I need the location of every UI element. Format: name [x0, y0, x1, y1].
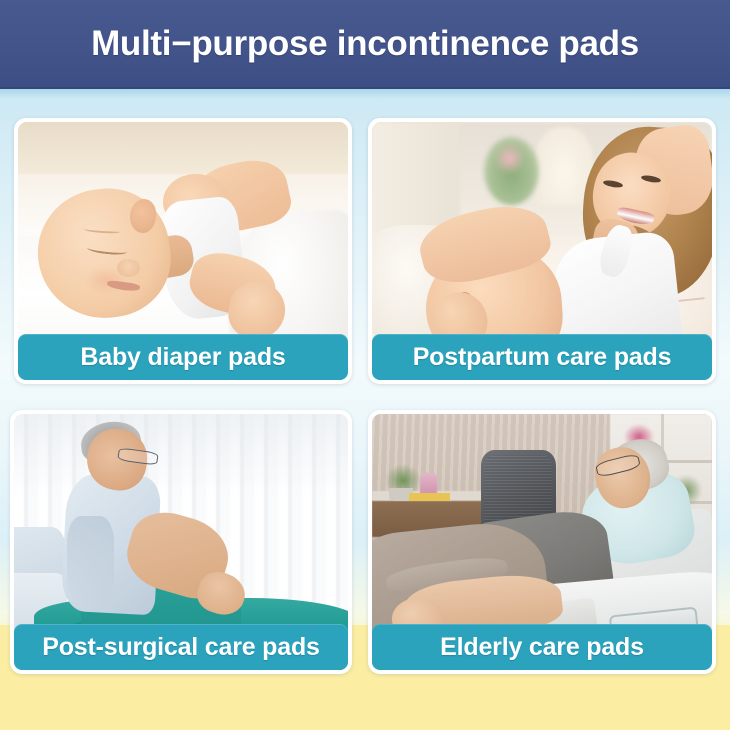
postpartum-flower — [494, 143, 525, 174]
caption-bar-postpartum: Postpartum care pads — [372, 334, 712, 380]
caption-label-baby: Baby diaper pads — [80, 343, 285, 372]
baby-headboard — [18, 122, 348, 174]
card-postpartum-care-pads[interactable]: Postpartum care pads — [368, 118, 716, 384]
surgical-gown-shadow — [67, 516, 114, 603]
caption-bar-baby: Baby diaper pads — [18, 334, 348, 380]
card-post-surgical-care-pads[interactable]: Post-surgical care pads — [10, 410, 352, 674]
elderly-book — [409, 493, 450, 501]
infographic-page: Multi−purpose incontinence pads Baby dia — [0, 0, 730, 730]
card-baby-diaper-pads[interactable]: Baby diaper pads — [14, 118, 352, 384]
page-title: Multi−purpose incontinence pads — [91, 24, 639, 64]
caption-bar-elderly: Elderly care pads — [372, 624, 712, 670]
caption-label-postpartum: Postpartum care pads — [413, 343, 672, 372]
caption-label-elderly: Elderly care pads — [440, 633, 644, 662]
baby-nose — [117, 259, 140, 277]
header-banner: Multi−purpose incontinence pads — [0, 0, 730, 89]
caption-label-post-surgical: Post-surgical care pads — [42, 633, 319, 662]
card-elderly-care-pads[interactable]: Elderly care pads — [368, 410, 716, 674]
header-underglow — [0, 89, 730, 99]
caption-bar-post-surgical: Post-surgical care pads — [14, 624, 348, 670]
